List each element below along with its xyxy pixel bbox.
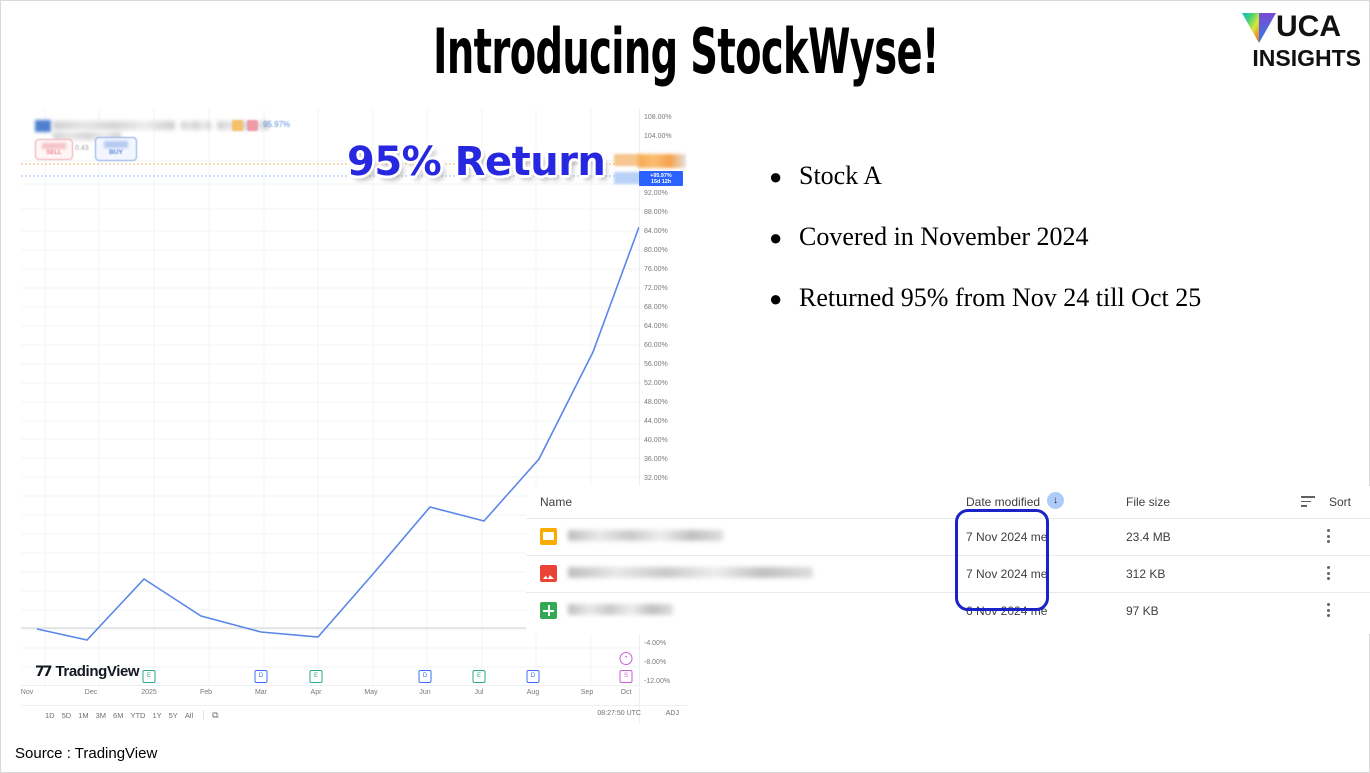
chart-time-axis[interactable]: Nov Dec 2025 Feb Mar Apr May Jun Jul Aug… (21, 685, 639, 706)
file-name-redacted (568, 604, 673, 615)
tradingview-mark-icon: 77 (35, 664, 50, 680)
table-row[interactable]: 7 Nov 2024 me 23.4 MB (526, 518, 1370, 556)
timeframe-1y[interactable]: 1Y (152, 711, 161, 720)
file-size: 312 KB (1126, 567, 1165, 581)
timeframe-5y[interactable]: 5Y (169, 711, 178, 720)
file-name-redacted (568, 530, 723, 541)
badge-percent: +95.97% (639, 173, 683, 180)
x-tick-label: Dec (85, 689, 97, 696)
x-tick-label: Apr (311, 689, 322, 696)
file-date-modified: 6 Nov 2024 me (966, 604, 1047, 618)
column-header-name[interactable]: Name (540, 495, 572, 509)
current-price-badge: +95.97% 15d 12h (639, 171, 683, 186)
column-header-date-modified[interactable]: Date modified (966, 495, 1040, 509)
badge-duration: 15d 12h (639, 179, 683, 186)
bullet-dot-icon: ● (769, 288, 799, 310)
news-marker-icon[interactable]: • (620, 652, 633, 665)
x-tick-label: May (364, 689, 377, 696)
y-tick-label: 32.00% (644, 475, 668, 482)
timeframe-all[interactable]: All (185, 711, 193, 720)
ticker-name-redacted (53, 121, 175, 130)
ticker-change-percent: 95.97% (263, 120, 290, 129)
sort-lines-icon[interactable] (1301, 496, 1315, 508)
alert-icon[interactable] (232, 120, 243, 131)
x-tick-label: Oct (621, 689, 632, 696)
chart-clock: 08:27:50 UTC (597, 710, 641, 717)
bullet-dot-icon: ● (769, 166, 799, 188)
y-tick-label: 40.00% (644, 437, 668, 444)
brand-logo: UCA INSIGHTS (1239, 5, 1361, 77)
vuca-v-gradient-icon (1239, 7, 1279, 47)
table-row[interactable]: 7 Nov 2024 me 312 KB (526, 555, 1370, 593)
table-row[interactable]: 6 Nov 2024 me 97 KB (526, 592, 1370, 630)
pdf-file-icon (540, 565, 557, 582)
orange-price-level-band (638, 154, 686, 168)
y-tick-label: 104.00% (644, 133, 672, 140)
bullet-text: Stock A (799, 161, 882, 191)
x-tick-label: Aug (527, 689, 539, 696)
earnings-marker-icon[interactable]: E (473, 670, 486, 683)
earnings-marker-icon[interactable]: E (143, 670, 156, 683)
ticker-field-a-redacted (181, 121, 211, 130)
ticker-field-b-redacted (217, 121, 269, 130)
y-tick-label: 72.00% (644, 285, 668, 292)
split-marker-icon[interactable]: S (620, 670, 633, 683)
dividend-marker-icon[interactable]: D (255, 670, 268, 683)
row-more-options-icon[interactable] (1321, 566, 1335, 582)
logo-text-insights: INSIGHTS (1239, 45, 1361, 72)
indicator-icon[interactable] (247, 120, 258, 131)
y-tick-label: 36.00% (644, 456, 668, 463)
y-tick-label: 84.00% (644, 228, 668, 235)
timeframe-3m[interactable]: 3M (96, 711, 106, 720)
chart-timeframe-toolbar[interactable]: 1D 5D 1M 3M 6M YTD 1Y 5Y All ⧉ 08:27:50 … (21, 705, 687, 723)
slides-file-icon (540, 528, 557, 545)
calendar-range-icon[interactable]: ⧉ (212, 710, 218, 721)
y-tick-label: -8.00% (644, 659, 666, 666)
tradingview-logo[interactable]: 77 TradingView (35, 663, 139, 680)
x-tick-label: Nov (21, 689, 33, 696)
file-size: 23.4 MB (1126, 530, 1171, 544)
slide-canvas: Introducing StockWyse! UCA INSIGHTS (0, 0, 1370, 773)
adjust-toggle[interactable]: ADJ (666, 710, 679, 717)
tradingview-wordmark: TradingView (55, 663, 139, 680)
file-list-header: Name Date modified ↓ File size Sort (526, 486, 1370, 518)
x-tick-label: 2025 (141, 689, 157, 696)
list-item: ● Stock A (769, 161, 1359, 191)
file-name-redacted (568, 567, 813, 578)
y-tick-label: 64.00% (644, 323, 668, 330)
bullet-dot-icon: ● (769, 227, 799, 249)
sell-button[interactable]: SELL (35, 139, 73, 160)
x-tick-label: Jun (419, 689, 430, 696)
y-tick-label: -4.00% (644, 640, 666, 647)
dividend-marker-icon[interactable]: D (419, 670, 432, 683)
buy-button[interactable]: BUY (95, 137, 137, 161)
page-title: Introducing StockWyse! (261, 15, 1110, 88)
row-more-options-icon[interactable] (1321, 603, 1335, 619)
bullet-list: ● Stock A ● Covered in November 2024 ● R… (769, 161, 1359, 344)
bullet-text: Returned 95% from Nov 24 till Oct 25 (799, 283, 1201, 313)
orange-level-tag-left (614, 154, 640, 166)
y-tick-label: 60.00% (644, 342, 668, 349)
y-tick-label: 76.00% (644, 266, 668, 273)
y-tick-label: -12.00% (644, 678, 670, 685)
dividend-marker-icon[interactable]: D (527, 670, 540, 683)
timeframe-5d[interactable]: 5D (62, 711, 72, 720)
y-tick-label: 92.00% (644, 190, 668, 197)
y-tick-label: 80.00% (644, 247, 668, 254)
column-header-file-size[interactable]: File size (1126, 495, 1170, 509)
earnings-marker-icon[interactable]: E (310, 670, 323, 683)
y-tick-label: 52.00% (644, 380, 668, 387)
timeframe-ytd[interactable]: YTD (130, 711, 145, 720)
file-size: 97 KB (1126, 604, 1159, 618)
spread-value: 0.43 (75, 145, 89, 152)
x-tick-label: Mar (255, 689, 267, 696)
blue-level-tag-left (614, 172, 640, 184)
row-more-options-icon[interactable] (1321, 529, 1335, 545)
x-tick-label: Sep (581, 689, 593, 696)
bullet-text: Covered in November 2024 (799, 222, 1089, 252)
sort-descending-arrow-icon[interactable]: ↓ (1047, 492, 1064, 509)
column-header-sort[interactable]: Sort (1329, 495, 1351, 509)
list-item: ● Returned 95% from Nov 24 till Oct 25 (769, 283, 1359, 313)
y-tick-label: 48.00% (644, 399, 668, 406)
x-tick-label: Jul (475, 689, 484, 696)
timeframe-1m[interactable]: 1M (78, 711, 88, 720)
logo-text-uca: UCA (1276, 10, 1341, 44)
file-date-modified: 7 Nov 2024 me (966, 530, 1047, 544)
list-item: ● Covered in November 2024 (769, 222, 1359, 252)
sheets-file-icon (540, 602, 557, 619)
file-date-modified: 7 Nov 2024 me (966, 567, 1047, 581)
y-tick-label: 108.00% (644, 114, 672, 121)
y-tick-label: 56.00% (644, 361, 668, 368)
return-callout: 95% Return (347, 139, 605, 185)
y-tick-label: 44.00% (644, 418, 668, 425)
timeframe-6m[interactable]: 6M (113, 711, 123, 720)
file-list-panel[interactable]: Name Date modified ↓ File size Sort 7 No… (526, 486, 1370, 634)
ticker-symbol-mark (35, 120, 51, 132)
y-tick-label: 68.00% (644, 304, 668, 311)
x-tick-label: Feb (200, 689, 212, 696)
timeframe-1d[interactable]: 1D (45, 711, 55, 720)
source-note: Source : TradingView (15, 745, 157, 762)
y-tick-label: 88.00% (644, 209, 668, 216)
toolbar-divider (203, 710, 204, 720)
